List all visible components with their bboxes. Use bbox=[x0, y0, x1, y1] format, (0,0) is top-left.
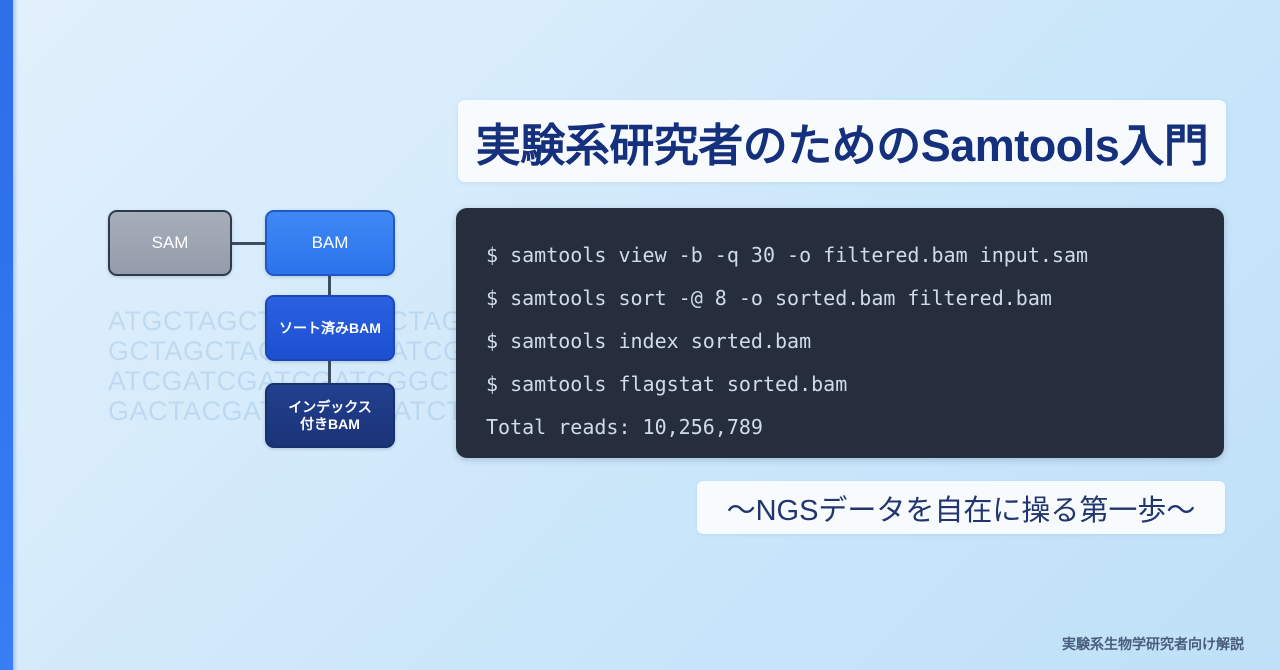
flow-node-bam-label: BAM bbox=[312, 233, 349, 253]
flow-node-indexed-bam-label-line1: インデックス bbox=[288, 399, 372, 415]
connector-sam-to-bam bbox=[231, 242, 267, 245]
flow-node-sorted-bam: ソート済みBAM bbox=[265, 295, 395, 361]
connector-sorted-to-indexed bbox=[328, 359, 331, 385]
terminal-line: $ samtools view -b -q 30 -o filtered.bam… bbox=[486, 234, 1224, 277]
terminal-line: $ samtools index sorted.bam bbox=[486, 320, 1224, 363]
title-banner: 実験系研究者のためのSamtools入門 bbox=[458, 100, 1226, 182]
terminal-output-total-reads: Total reads: 10,256,789 bbox=[486, 406, 1224, 449]
flow-node-sam-label: SAM bbox=[152, 233, 189, 253]
footer-caption: 実験系生物学研究者向け解説 bbox=[1062, 634, 1244, 654]
flow-node-sam: SAM bbox=[108, 210, 232, 276]
terminal-line: $ samtools flagstat sorted.bam bbox=[486, 363, 1224, 406]
flow-node-indexed-bam: インデックス 付きBAM bbox=[265, 383, 395, 448]
connector-bam-to-sorted bbox=[328, 274, 331, 297]
terminal-line: $ samtools sort -@ 8 -o sorted.bam filte… bbox=[486, 277, 1224, 320]
page-subtitle: 〜NGSデータを自在に操る第一歩〜 bbox=[727, 487, 1196, 529]
terminal-panel: $ samtools view -b -q 30 -o filtered.bam… bbox=[456, 208, 1224, 458]
flow-node-bam: BAM bbox=[265, 210, 395, 276]
flow-node-indexed-bam-label-line2: 付きBAM bbox=[300, 416, 360, 432]
pipeline-flowchart: SAM BAM ソート済みBAM インデックス 付きBAM bbox=[0, 0, 470, 470]
flow-node-sorted-bam-label: ソート済みBAM bbox=[279, 320, 381, 337]
subtitle-banner: 〜NGSデータを自在に操る第一歩〜 bbox=[697, 481, 1225, 534]
slide-canvas: ATGCTAGCTAGCTAGCTAGCTAGC GCTAGCTAGCTATCG… bbox=[0, 0, 1280, 670]
page-title: 実験系研究者のためのSamtools入門 bbox=[476, 109, 1209, 174]
